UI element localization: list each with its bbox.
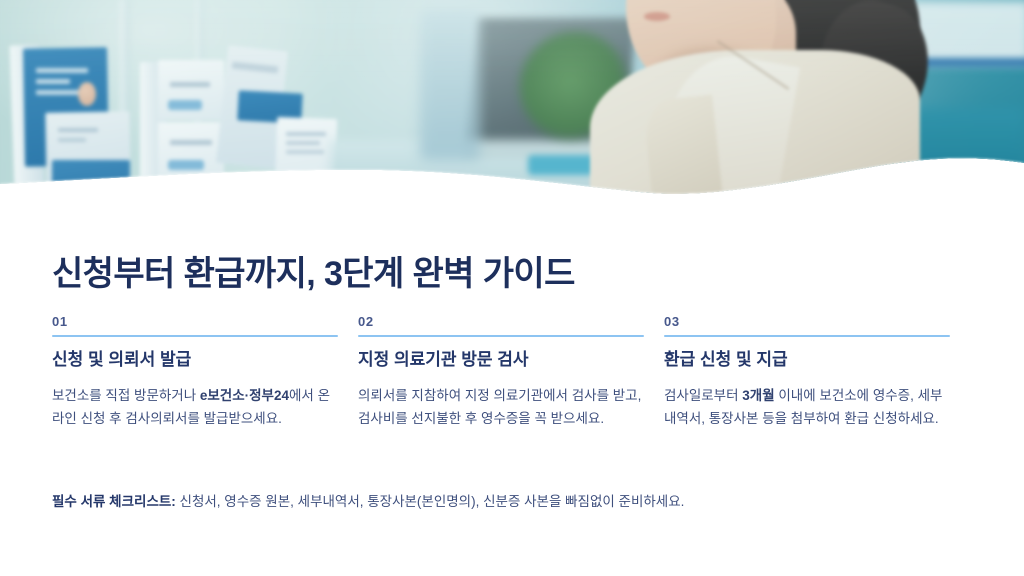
step-body-03: 검사일로부터 3개월 이내에 보건소에 영수증, 세부내역서, 통장사본 등을 … bbox=[664, 384, 950, 430]
step-divider-01 bbox=[52, 335, 338, 337]
step-heading-03: 환급 신청 및 지급 bbox=[664, 349, 950, 371]
step-body-02: 의뢰서를 지참하여 지정 의료기관에서 검사를 받고, 검사비를 선지불한 후 … bbox=[358, 384, 644, 430]
step-number-02: 02 bbox=[358, 315, 644, 335]
steps-row: 01 신청 및 의뢰서 발급 보건소를 직접 방문하거나 e보건소·정부24에서… bbox=[52, 315, 972, 431]
step-body-03-emphasis: 3개월 bbox=[742, 388, 774, 403]
page-title-suffix: 단계 완벽 가이드 bbox=[342, 255, 574, 293]
step-heading-02: 지정 의료기관 방문 검사 bbox=[358, 349, 644, 371]
checklist-note: 필수 서류 체크리스트: 신청서, 영수증 원본, 세부내역서, 통장사본(본인… bbox=[52, 491, 972, 513]
step-divider-02 bbox=[358, 335, 644, 337]
hero-soft-focus bbox=[0, 0, 1024, 200]
checklist-label: 필수 서류 체크리스트: bbox=[52, 494, 176, 509]
step-body-01-emphasis: e보건소·정부24 bbox=[200, 388, 289, 403]
step-heading-01: 신청 및 의뢰서 발급 bbox=[52, 349, 338, 371]
step-card-01: 01 신청 및 의뢰서 발급 보건소를 직접 방문하거나 e보건소·정부24에서… bbox=[52, 315, 338, 431]
hero-image bbox=[0, 0, 1024, 200]
checklist-text: 신청서, 영수증 원본, 세부내역서, 통장사본(본인명의), 신분증 사본을 … bbox=[176, 494, 685, 509]
step-card-02: 02 지정 의료기관 방문 검사 의뢰서를 지참하여 지정 의료기관에서 검사를… bbox=[358, 315, 644, 431]
slide-root: 신청부터 환급까지, 3단계 완벽 가이드 01 신청 및 의뢰서 발급 보건소… bbox=[0, 0, 1024, 576]
step-divider-03 bbox=[664, 335, 950, 337]
step-body-01: 보건소를 직접 방문하거나 e보건소·정부24에서 온라인 신청 후 검사의뢰서… bbox=[52, 384, 338, 430]
step-body-02-pre: 의뢰서를 지참하여 지정 의료기관에서 검사를 받고, 검사비를 선지불한 후 … bbox=[358, 388, 641, 426]
step-card-03: 03 환급 신청 및 지급 검사일로부터 3개월 이내에 보건소에 영수증, 세… bbox=[664, 315, 950, 431]
step-number-01: 01 bbox=[52, 315, 338, 335]
hero-wave-clip bbox=[0, 0, 1024, 200]
page-title-number: 3 bbox=[324, 255, 342, 293]
step-body-01-pre: 보건소를 직접 방문하거나 bbox=[52, 388, 200, 403]
page-title: 신청부터 환급까지, 3단계 완벽 가이드 bbox=[52, 246, 575, 295]
rack-shelf bbox=[128, 178, 308, 192]
step-number-03: 03 bbox=[664, 315, 950, 335]
page-title-prefix: 신청부터 환급까지, bbox=[52, 255, 324, 293]
step-body-03-pre: 검사일로부터 bbox=[664, 388, 742, 403]
hero-photo bbox=[0, 0, 1024, 200]
